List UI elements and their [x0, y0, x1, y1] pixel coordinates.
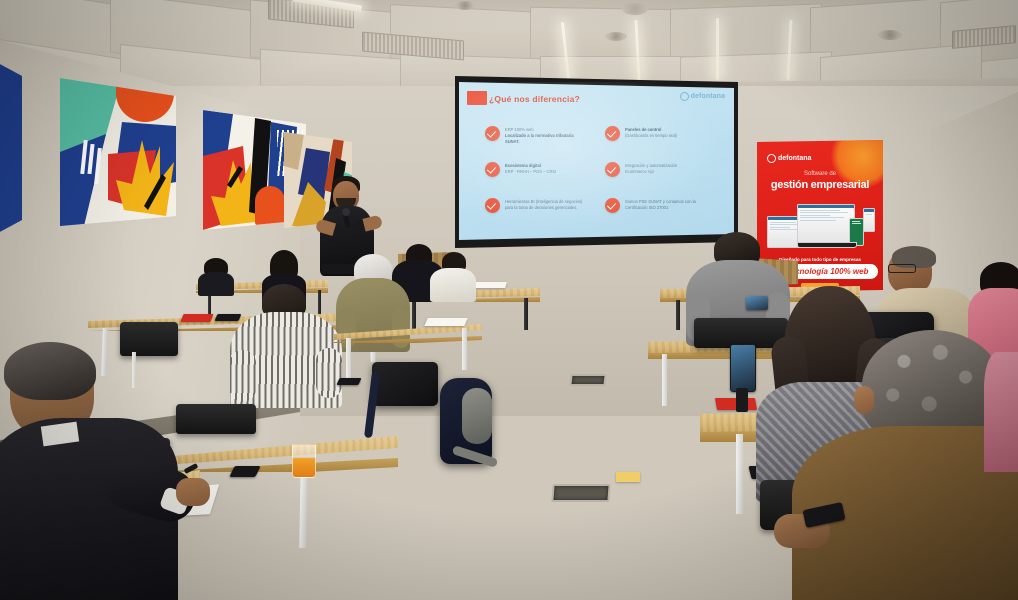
smartphone-recording[interactable] [730, 344, 756, 392]
slide-title: ¿Qué nos diferencia? [489, 94, 580, 104]
banner-subtitle: Software de [757, 171, 883, 177]
defontana-logo-mark [680, 92, 689, 101]
pen [184, 463, 199, 474]
paper-sheet [616, 472, 640, 482]
check-icon [605, 162, 620, 177]
ceiling-speaker [455, 1, 475, 10]
microphone-head [342, 208, 350, 216]
check-icon [605, 198, 620, 213]
canvas-teal-orange [60, 78, 176, 226]
floor-outlet [551, 484, 610, 502]
defontana-logo-mark [767, 154, 776, 163]
check-icon [485, 162, 500, 177]
banner-title: gestión empresarial [757, 179, 883, 191]
slide-title-accent-block [467, 91, 487, 105]
phone-tripod [736, 388, 748, 412]
slide-bullet-text: Somos PSE SUNAT y contamos con la Certif… [625, 198, 709, 211]
slide-bullet-text: ERP 100% web Localizado a la normativa t… [505, 126, 589, 145]
canvas-blue-edge [0, 62, 22, 234]
attendee-ear [854, 386, 874, 414]
ceiling-smoke-detector [622, 3, 648, 15]
slide-bullet: Somos PSE SUNAT y contamos con la Certif… [605, 198, 709, 213]
slide-logo: defontana [680, 92, 725, 101]
ceiling-speaker [878, 30, 902, 40]
slide-bullet: Ecosistema digital ERP - RRHH – POS – CR… [485, 162, 556, 177]
attendee-right-edge [984, 352, 1018, 472]
check-icon [485, 126, 500, 141]
banner-logo-text: defontana [778, 155, 811, 162]
attendee-white-shirt [430, 252, 476, 298]
backpack-panel [462, 388, 492, 444]
slide-bullet: Integración y automatización Ecommerce A… [605, 162, 677, 177]
attendee-dark-suit [0, 340, 214, 600]
slide-bullet-text: Herramientas BI (Inteligencia de negocio… [505, 198, 589, 211]
laptop-bag [372, 362, 438, 406]
slide-bullet: ERP 100% web Localizado a la normativa t… [485, 126, 589, 145]
attendee-hair [4, 342, 96, 400]
ceiling-speaker [605, 32, 627, 41]
check-icon [485, 198, 500, 213]
attendee-hand [176, 478, 210, 506]
notebook [180, 314, 213, 322]
check-icon [605, 126, 620, 141]
ceiling-light [716, 18, 719, 80]
smartphone [746, 296, 768, 310]
slide-logo-text: defontana [691, 93, 725, 100]
conference-room-photo: ¿Qué nos diferencia? defontana ERP 100% … [0, 0, 1018, 600]
slide-bullet: Paneles de control (Dashboards en tiempo… [605, 126, 677, 141]
slide-bullet: Herramientas BI (Inteligencia de negocio… [485, 198, 589, 213]
slide-bullet-text: Paneles de control (Dashboards en tiempo… [625, 126, 677, 139]
slide-bullet-text: Ecosistema digital ERP - RRHH – POS – CR… [505, 162, 556, 175]
glasses-icon [888, 264, 916, 273]
smartphone [336, 378, 361, 385]
presentation-slide: ¿Qué nos diferencia? defontana ERP 100% … [459, 82, 734, 240]
smartphone [229, 466, 260, 477]
drink-glass [292, 444, 316, 478]
slide-bullet-text: Integración y automatización Ecommerce A… [625, 162, 677, 175]
floor-outlet [569, 374, 606, 386]
attendee-striped-shirt [230, 284, 342, 408]
banner-logo: defontana [767, 154, 811, 163]
